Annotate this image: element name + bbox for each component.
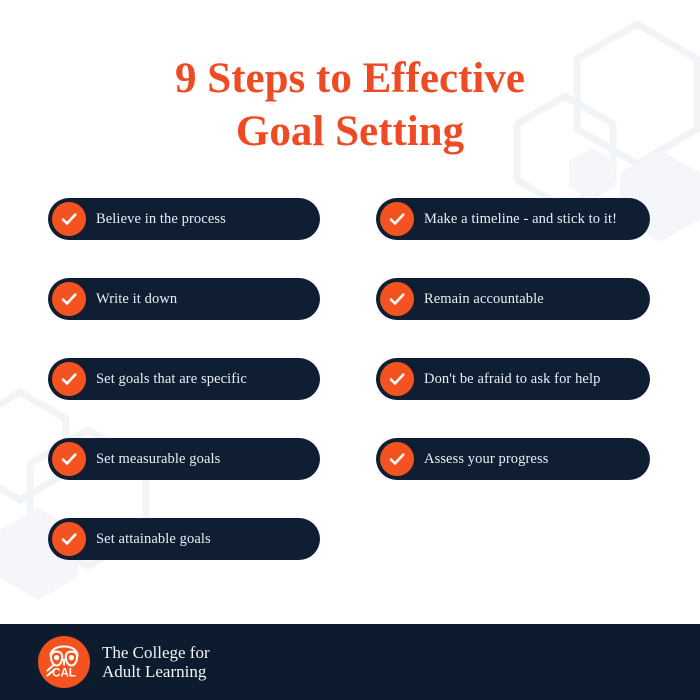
step-label: Make a timeline - and stick to it!	[424, 211, 617, 228]
owl-logo-icon: CAL	[38, 636, 90, 688]
step-item-write-it-down[interactable]: Write it down	[48, 278, 320, 320]
brand-lockup[interactable]: CAL The College for Adult Learning	[38, 636, 210, 688]
steps-right-column: Make a timeline - and stick to it! Remai…	[376, 198, 650, 480]
page-title: 9 Steps to Effective Goal Setting	[0, 52, 700, 158]
step-item-believe-in-the-process[interactable]: Believe in the process	[48, 198, 320, 240]
step-item-set-goals-that-are-specific[interactable]: Set goals that are specific	[48, 358, 320, 400]
step-item-dont-be-afraid-to-ask-for-help[interactable]: Don't be afraid to ask for help	[376, 358, 650, 400]
footer-bar: CAL The College for Adult Learning	[0, 624, 700, 700]
page-title-line-1: 9 Steps to Effective	[0, 52, 700, 105]
step-item-set-attainable-goals[interactable]: Set attainable goals	[48, 518, 320, 560]
check-icon	[52, 522, 86, 556]
steps-left-column: Believe in the process Write it down Set…	[48, 198, 320, 560]
step-label: Set measurable goals	[96, 451, 220, 468]
check-icon	[52, 362, 86, 396]
check-icon	[380, 202, 414, 236]
page-title-line-2: Goal Setting	[0, 105, 700, 158]
brand-name-line-2: Adult Learning	[102, 662, 210, 681]
infographic-poster: 9 Steps to Effective Goal Setting Believ…	[0, 0, 700, 700]
step-label: Write it down	[96, 291, 177, 308]
step-label: Set goals that are specific	[96, 371, 247, 388]
step-label: Don't be afraid to ask for help	[424, 371, 600, 388]
step-label: Assess your progress	[424, 451, 548, 468]
step-label: Remain accountable	[424, 291, 544, 308]
check-icon	[380, 282, 414, 316]
step-item-remain-accountable[interactable]: Remain accountable	[376, 278, 650, 320]
step-label: Set attainable goals	[96, 531, 211, 548]
check-icon	[52, 282, 86, 316]
step-item-make-a-timeline[interactable]: Make a timeline - and stick to it!	[376, 198, 650, 240]
check-icon	[380, 362, 414, 396]
brand-name: The College for Adult Learning	[102, 643, 210, 681]
step-label: Believe in the process	[96, 211, 226, 228]
step-item-assess-your-progress[interactable]: Assess your progress	[376, 438, 650, 480]
check-icon	[380, 442, 414, 476]
logo-monogram: CAL	[52, 667, 76, 679]
check-icon	[52, 202, 86, 236]
brand-name-line-1: The College for	[102, 643, 210, 662]
step-item-set-measurable-goals[interactable]: Set measurable goals	[48, 438, 320, 480]
check-icon	[52, 442, 86, 476]
